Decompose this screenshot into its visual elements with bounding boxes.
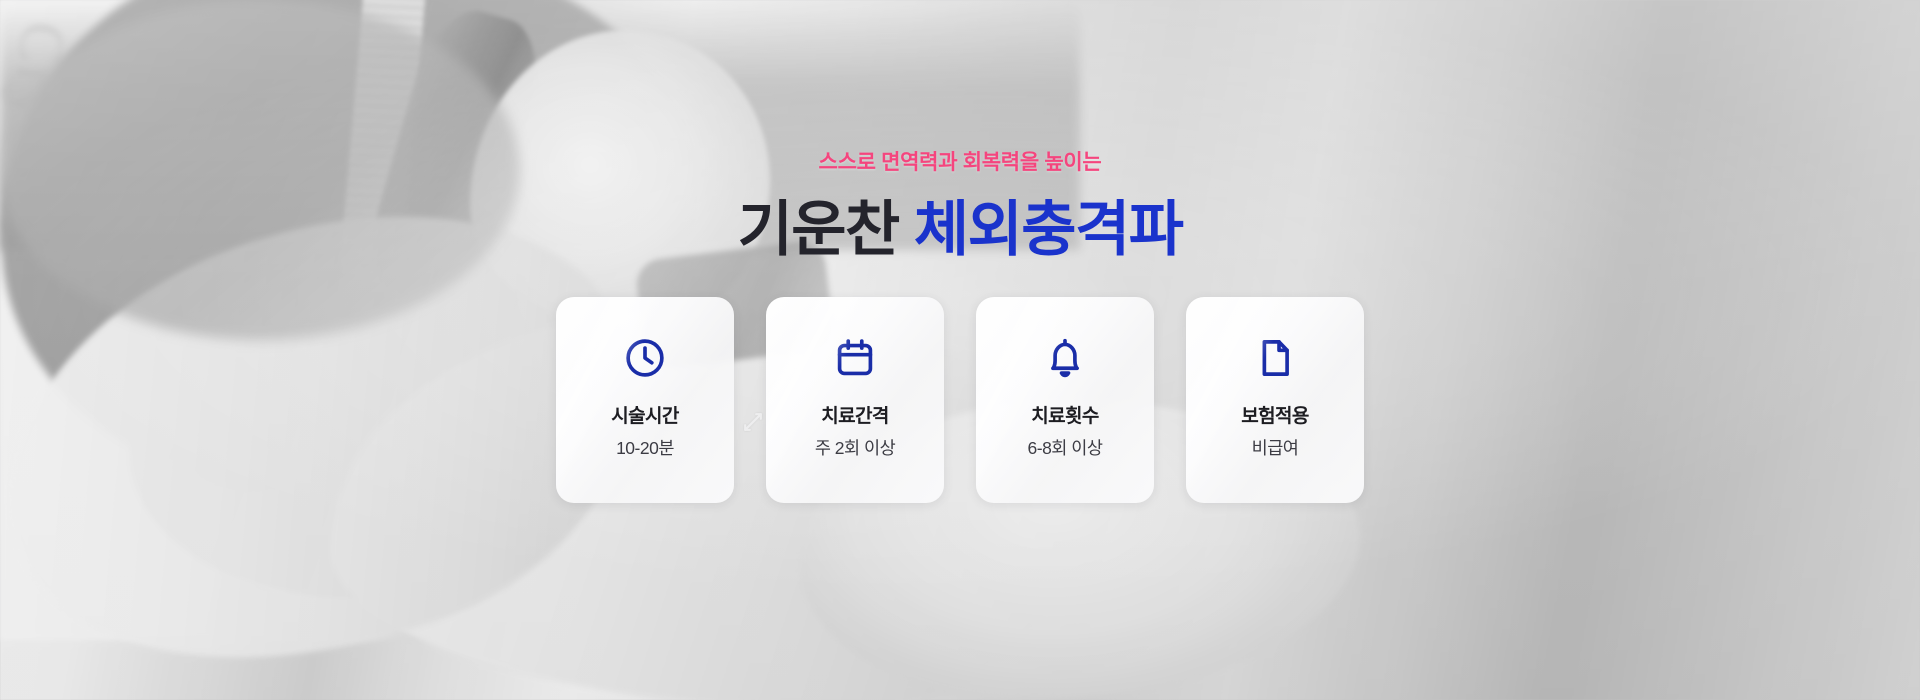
info-card-value: 비급여 xyxy=(1252,440,1299,458)
info-card-label: 치료횟수 xyxy=(1031,407,1099,426)
resize-arrow-icon xyxy=(742,411,764,433)
info-card-insurance[interactable]: 보험적용 비급여 xyxy=(1186,297,1364,503)
hero-content: 스스로 면역력과 회복력을 높이는 기운찬 체외충격파 시술시간 10-20분 xyxy=(0,0,1920,700)
info-card-value: 10-20분 xyxy=(616,440,674,458)
hero-title-plain: 기운찬 xyxy=(738,196,914,263)
info-card-label: 치료간격 xyxy=(821,407,889,426)
document-icon xyxy=(1252,335,1298,381)
info-card-list: 시술시간 10-20분 치료간격 주 2회 이상 xyxy=(556,297,1364,503)
bell-icon xyxy=(1042,335,1088,381)
info-card-label: 보험적용 xyxy=(1241,407,1309,426)
hero-banner: Cryo-M 스스로 면역력과 회복력을 높이는 기운찬 체외충격파 xyxy=(0,0,1920,700)
hero-title-accent: 체외충격파 xyxy=(914,196,1183,263)
clock-icon xyxy=(622,335,668,381)
info-card-value: 주 2회 이상 xyxy=(815,440,895,458)
info-card-label: 시술시간 xyxy=(611,407,679,426)
info-card-treatment-count[interactable]: 치료횟수 6-8회 이상 xyxy=(976,297,1154,503)
info-card-treatment-interval[interactable]: 치료간격 주 2회 이상 xyxy=(766,297,944,503)
hero-title: 기운찬 체외충격파 xyxy=(738,195,1183,266)
info-card-value: 6-8회 이상 xyxy=(1028,440,1103,458)
info-card-treatment-time[interactable]: 시술시간 10-20분 xyxy=(556,297,734,503)
hero-subtitle: 스스로 면역력과 회복력을 높이는 xyxy=(819,152,1102,173)
calendar-icon xyxy=(832,335,878,381)
